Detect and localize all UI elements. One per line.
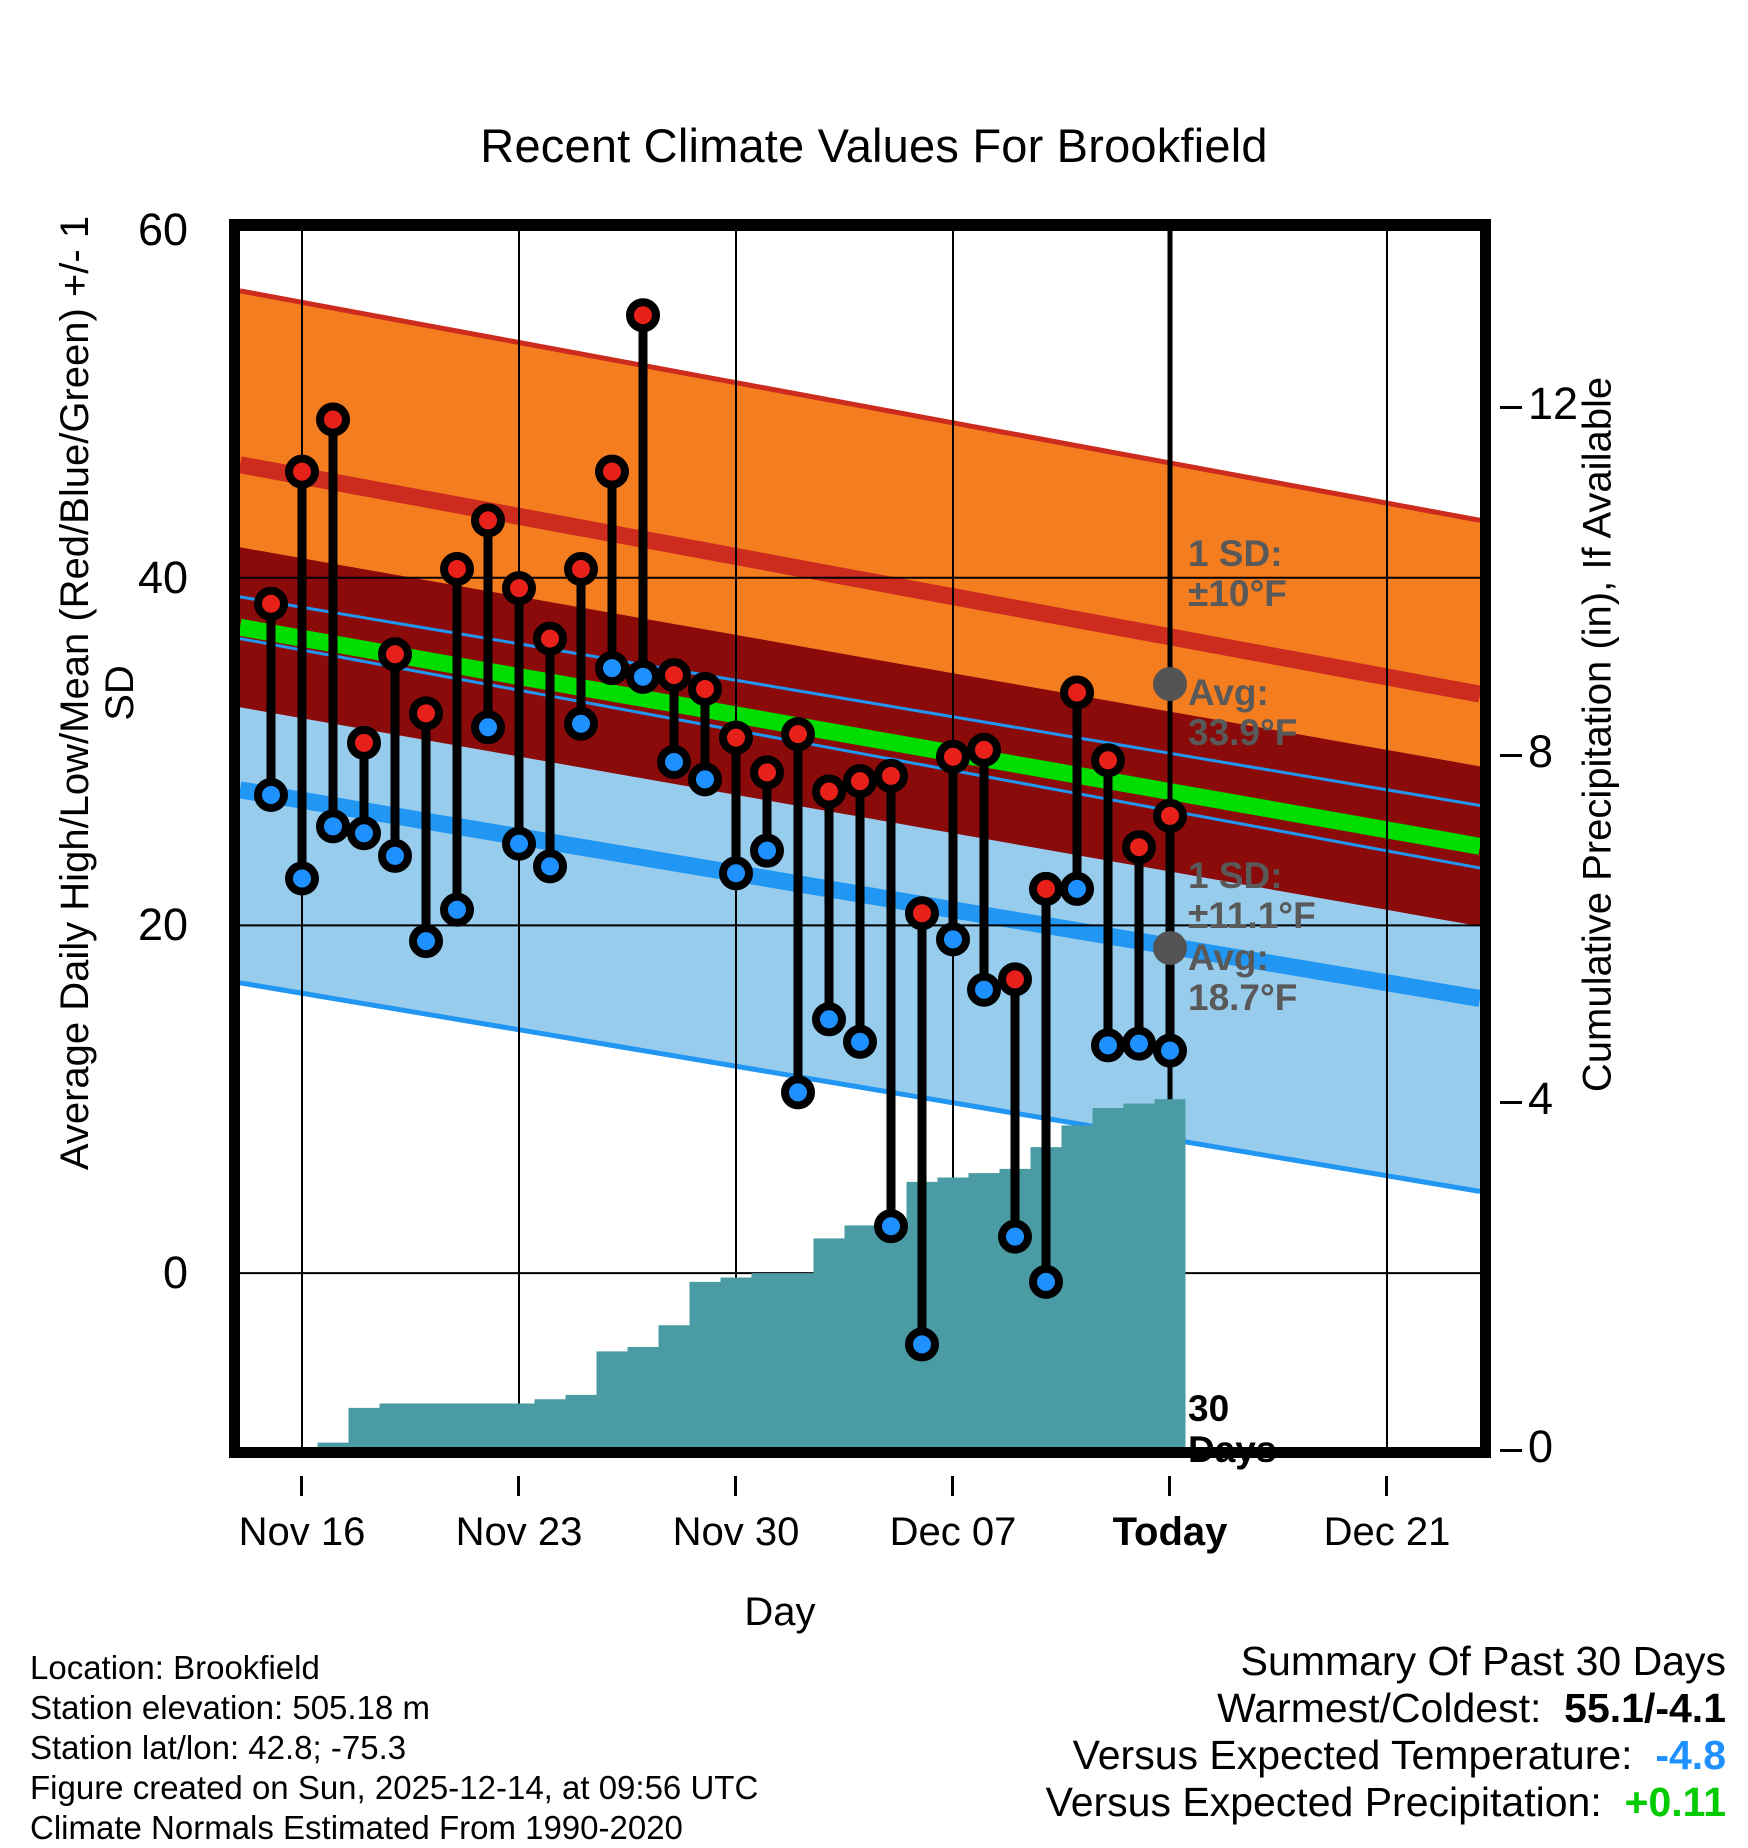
summary-warmest-coldest: Warmest/Coldest: 55.1/-4.1	[1046, 1685, 1726, 1732]
footer-normals: Climate Normals Estimated From 1990-2020	[30, 1808, 758, 1848]
y-tick-right-8: 8	[1528, 726, 1728, 778]
tick-mark	[300, 1476, 303, 1496]
footer-metadata: Location: Brookfield Station elevation: …	[30, 1648, 758, 1848]
footer-summary: Summary Of Past 30 Days Warmest/Coldest:…	[1046, 1638, 1726, 1826]
tick-mark	[1500, 1101, 1522, 1104]
summary-warmest-coldest-label: Warmest/Coldest:	[1217, 1685, 1541, 1731]
y-tick-right-4: 4	[1528, 1073, 1728, 1125]
y-tick-right-0: 0	[1528, 1421, 1728, 1473]
tick-mark	[734, 1476, 737, 1496]
tick-mark	[951, 1476, 954, 1496]
plot-area	[240, 230, 1480, 1447]
tick-mark	[1500, 754, 1522, 757]
summary-vs-precip: Versus Expected Precipitation: +0.11	[1046, 1779, 1726, 1826]
y-tick-left-60: 60	[0, 204, 188, 256]
summary-vs-precip-value: +0.11	[1625, 1779, 1726, 1825]
annotation-high-avg: Avg: 33.9°F	[1188, 673, 1297, 753]
footer-location: Location: Brookfield	[30, 1648, 758, 1688]
climate-chart: Recent Climate Values For Brookfield Ave…	[0, 0, 1748, 1828]
y-axis-left-label: Average Daily High/Low/Mean (Red/Blue/Gr…	[53, 193, 143, 1193]
tick-mark	[1385, 1476, 1388, 1496]
tick-mark	[517, 1476, 520, 1496]
today-average-dot	[1153, 931, 1187, 965]
summary-vs-precip-label: Versus Expected Precipitation:	[1046, 1779, 1602, 1825]
y-tick-right-12: 12	[1528, 378, 1728, 430]
annotation-window: 30 Days	[1188, 1388, 1276, 1470]
chart-title: Recent Climate Values For Brookfield	[0, 118, 1748, 173]
tick-mark	[1500, 1449, 1522, 1452]
footer-elevation: Station elevation: 505.18 m	[30, 1688, 758, 1728]
x-tick-dec-21: Dec 21	[1257, 1510, 1517, 1555]
x-axis-label: Day	[530, 1590, 1030, 1635]
annotation-high-sd: 1 SD: ±10°F	[1188, 534, 1287, 614]
annotation-low-sd: 1 SD: ±11.1°F	[1188, 856, 1316, 936]
annotation-low-avg: Avg: 18.7°F	[1188, 938, 1297, 1018]
summary-vs-temp: Versus Expected Temperature: -4.8	[1046, 1732, 1726, 1779]
footer-latlon: Station lat/lon: 42.8; -75.3	[30, 1728, 758, 1768]
summary-warmest-coldest-value: 55.1/-4.1	[1564, 1685, 1726, 1731]
y-tick-left-20: 20	[0, 899, 188, 951]
today-average-dot	[1153, 667, 1187, 701]
plot-canvas	[240, 230, 1480, 1447]
summary-vs-temp-value: -4.8	[1655, 1732, 1726, 1778]
footer-created: Figure created on Sun, 2025-12-14, at 09…	[30, 1768, 758, 1808]
tick-mark	[1168, 1476, 1171, 1496]
y-tick-left-40: 40	[0, 552, 188, 604]
tick-mark	[1500, 406, 1522, 409]
summary-title: Summary Of Past 30 Days	[1046, 1638, 1726, 1685]
summary-vs-temp-label: Versus Expected Temperature:	[1073, 1732, 1633, 1778]
y-tick-left-0: 0	[0, 1247, 188, 1299]
